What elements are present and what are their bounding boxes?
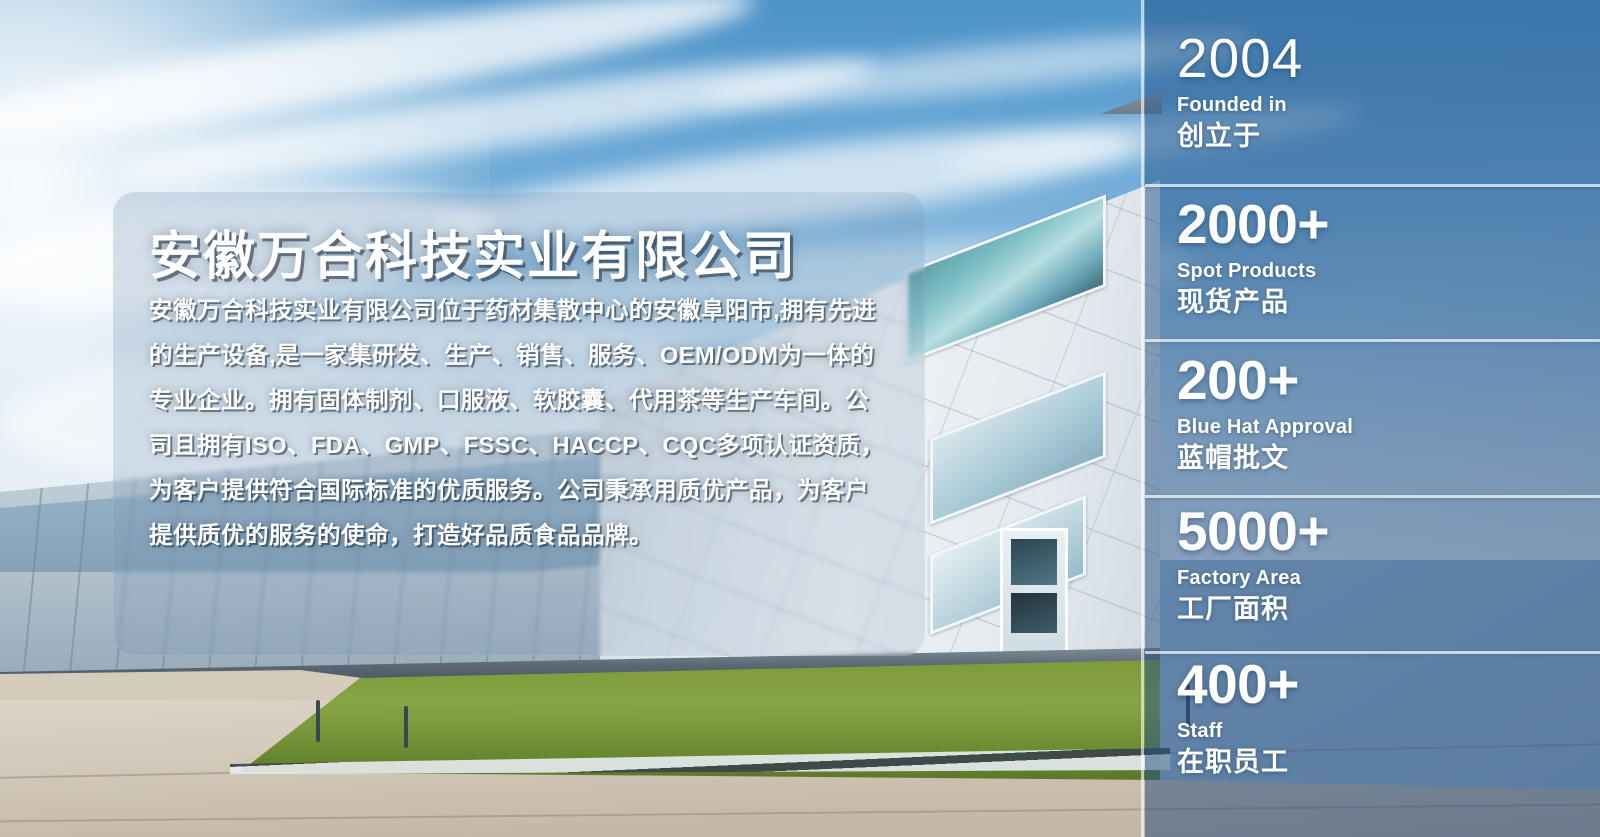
lawn-post <box>316 700 320 742</box>
stats-divider <box>1145 495 1600 498</box>
company-title: 安徽万合科技实业有限公司 <box>149 214 797 289</box>
stats-divider <box>1145 339 1600 342</box>
lawn-post <box>404 706 408 748</box>
stat-label-cn: 在职员工 <box>1177 745 1600 780</box>
stats-panel-left-edge <box>1141 0 1144 837</box>
company-description: 安徽万合科技实业有限公司位于药材集散中心的安徽阜阳市,拥有先进的生产设备,是一家… <box>149 288 889 558</box>
stat-label-en: Blue Hat Approval <box>1177 414 1600 440</box>
company-info-card: 安徽万合科技实业有限公司 安徽万合科技实业有限公司位于药材集散中心的安徽阜阳市,… <box>113 192 925 656</box>
stat-item-factory-area[interactable]: 5000+ Factory Area 工厂面积 <box>1145 503 1600 627</box>
stat-label-cn: 创立于 <box>1177 119 1600 154</box>
stat-label-cn: 现货产品 <box>1177 285 1600 320</box>
stat-label-en: Factory Area <box>1177 565 1600 591</box>
stat-value: 200+ <box>1177 352 1600 410</box>
stat-label-en: Spot Products <box>1177 258 1600 284</box>
stat-value: 2004 <box>1177 30 1600 88</box>
stat-item-spot-products[interactable]: 2000+ Spot Products 现货产品 <box>1145 196 1600 320</box>
stat-label-en: Staff <box>1177 718 1600 744</box>
stat-label-en: Founded in <box>1177 92 1600 118</box>
stat-label-cn: 蓝帽批文 <box>1177 441 1600 476</box>
stat-item-blue-hat-approval[interactable]: 200+ Blue Hat Approval 蓝帽批文 <box>1145 352 1600 476</box>
stats-divider <box>1145 184 1600 187</box>
stat-value: 2000+ <box>1177 196 1600 254</box>
hero-banner: 安徽万合科技实业有限公司 安徽万合科技实业有限公司位于药材集散中心的安徽阜阳市,… <box>0 0 1600 837</box>
stat-value: 400+ <box>1177 656 1600 714</box>
stat-item-founded[interactable]: 2004 Founded in 创立于 <box>1145 30 1600 154</box>
building-entrance-door <box>1000 528 1068 664</box>
stat-item-staff[interactable]: 400+ Staff 在职员工 <box>1145 656 1600 780</box>
stat-value: 5000+ <box>1177 503 1600 561</box>
stat-label-cn: 工厂面积 <box>1177 592 1600 627</box>
